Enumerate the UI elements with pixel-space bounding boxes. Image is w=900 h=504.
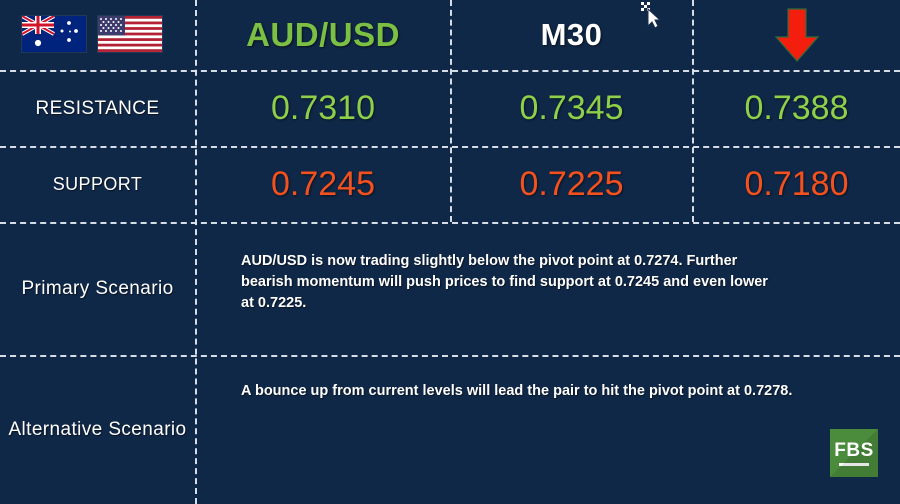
forex-signal-card: AUD/USD M30 RESISTANCE 0.7310 0.7345 0.7…: [0, 0, 900, 504]
resistance-label: RESISTANCE: [35, 98, 159, 120]
direction-cell: [693, 0, 900, 70]
fbs-logo-text: FBS: [834, 441, 874, 460]
alternative-scenario-text: A bounce up from current levels will lea…: [241, 381, 816, 402]
support-value-2-cell: 0.7225: [451, 147, 692, 222]
resistance-value-3-cell: 0.7388: [693, 71, 900, 146]
resistance-value: 0.7345: [520, 89, 624, 128]
support-value: 0.7225: [520, 165, 624, 204]
primary-scenario-label: Primary Scenario: [21, 276, 173, 302]
timeframe-label: M30: [541, 17, 603, 53]
alternative-scenario-label-cell: Alternative Scenario: [0, 356, 195, 504]
busy-pointer-cursor: [641, 2, 663, 30]
support-value: 0.7245: [271, 165, 375, 204]
resistance-value-1-cell: 0.7310: [196, 71, 450, 146]
currency-pair-label: AUD/USD: [246, 16, 400, 54]
support-value-3-cell: 0.7180: [693, 147, 900, 222]
australia-flag: [22, 16, 86, 52]
resistance-value: 0.7310: [271, 89, 375, 128]
primary-scenario-label-cell: Primary Scenario: [0, 223, 195, 355]
resistance-value: 0.7388: [745, 89, 849, 128]
support-label: SUPPORT: [53, 174, 143, 195]
usa-flag: [98, 16, 162, 52]
resistance-value-2-cell: 0.7345: [451, 71, 692, 146]
alternative-scenario-label: Alternative Scenario: [8, 417, 186, 443]
resistance-row-label: RESISTANCE: [0, 71, 195, 146]
support-value: 0.7180: [745, 165, 849, 204]
fbs-logo: FBS: [830, 429, 878, 477]
support-row-label: SUPPORT: [0, 147, 195, 222]
support-value-1-cell: 0.7245: [196, 147, 450, 222]
arrow-down-icon: [774, 7, 820, 63]
primary-scenario-text: AUD/USD is now trading slightly below th…: [241, 251, 781, 314]
currency-pair-cell: AUD/USD: [196, 0, 450, 70]
currency-flags: [22, 16, 162, 52]
